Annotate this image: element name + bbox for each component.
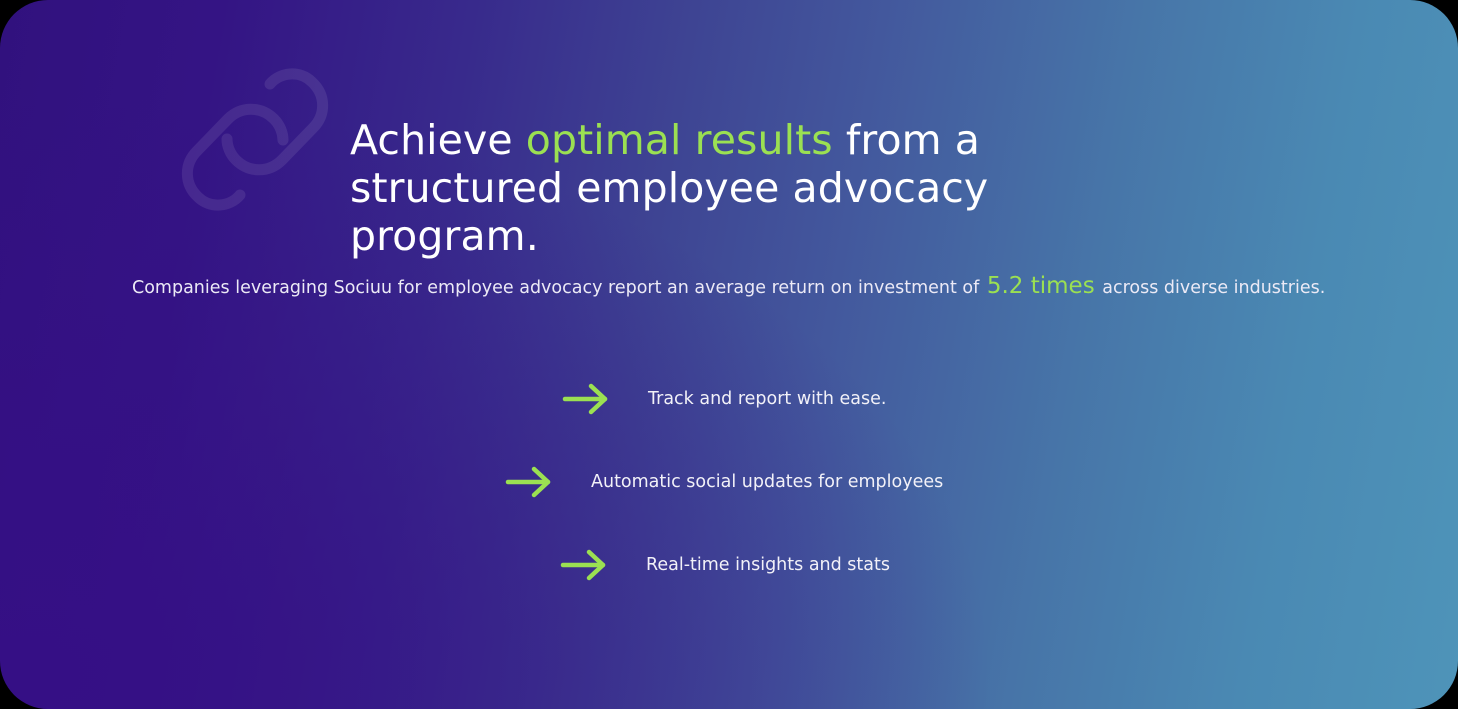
list-item: Track and report with ease. [560,381,886,417]
subtitle: Companies leveraging Sociuu for employee… [132,272,1342,302]
list-item: Automatic social updates for employees [503,464,943,500]
arrow-right-icon [560,381,612,417]
list-item-label: Track and report with ease. [648,389,886,409]
list-item-label: Real-time insights and stats [646,555,890,575]
subtitle-part-2: across diverse industries. [1097,278,1326,298]
arrow-right-icon [503,464,555,500]
headline-part-1: Achieve [350,116,526,164]
promo-banner: Achieve optimal results from a structure… [0,0,1458,709]
page-title: Achieve optimal results from a structure… [350,116,1150,260]
subtitle-part-1: Companies leveraging Sociuu for employee… [132,278,985,298]
headline-accent: optimal results [526,116,833,164]
roi-metric: 5.2 times [985,273,1097,299]
list-item-label: Automatic social updates for employees [591,472,943,492]
arrow-right-icon [558,547,610,583]
list-item: Real-time insights and stats [558,547,890,583]
chain-link-icon [160,62,350,217]
